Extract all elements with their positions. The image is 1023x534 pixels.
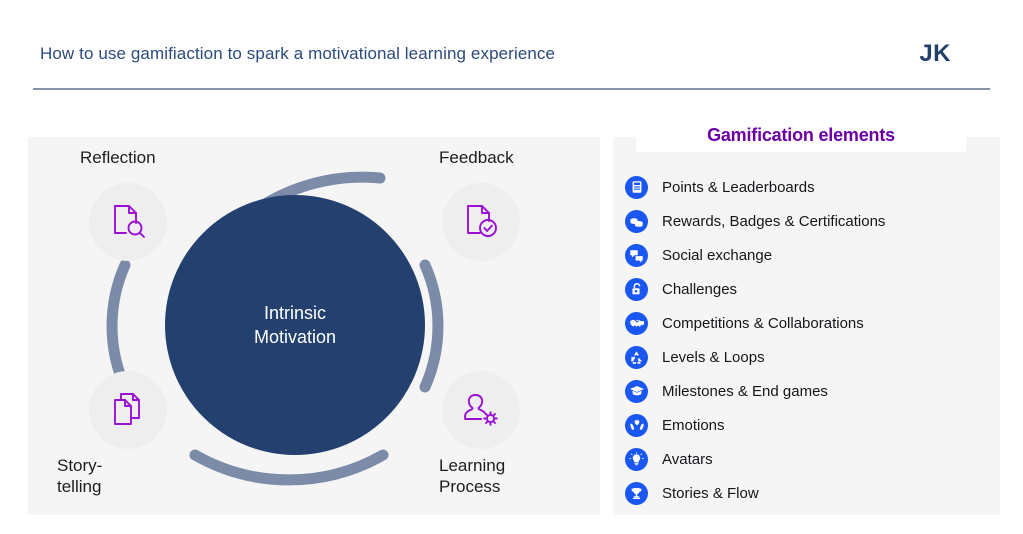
list-item[interactable]: Competitions & Collaborations: [625, 306, 1005, 340]
list-item-label: Rewards, Badges & Certifications: [662, 213, 885, 230]
cycle-node-label-feedback: Feedback: [439, 147, 514, 168]
cycle-node-label-reflection: Reflection: [80, 147, 156, 168]
list-item[interactable]: Social exchange: [625, 238, 1005, 272]
lightbulb-icon: [625, 448, 648, 471]
center-node: Intrinsic Motivation: [165, 195, 425, 455]
list-item[interactable]: Rewards, Badges & Certifications: [625, 204, 1005, 238]
list-item[interactable]: Levels & Loops: [625, 340, 1005, 374]
list-item[interactable]: Milestones & End games: [625, 374, 1005, 408]
person-gear-icon: [460, 389, 502, 431]
center-node-label: Intrinsic Motivation: [254, 301, 336, 349]
list-item[interactable]: Challenges: [625, 272, 1005, 306]
cycle-node-label-learning-process: Learning Process: [439, 455, 505, 497]
unlock-icon: [625, 278, 648, 301]
gamification-elements-header: Gamification elements: [636, 118, 966, 152]
header-divider: [33, 88, 990, 90]
list-item-label: Avatars: [662, 451, 713, 468]
recycle-loop-icon: [625, 346, 648, 369]
list-item[interactable]: Stories & Flow: [625, 476, 1005, 510]
gamification-elements-title: Gamification elements: [707, 125, 895, 146]
document-search-icon: [107, 201, 149, 243]
speech-bubbles-icon: [625, 244, 648, 267]
list-item[interactable]: Avatars: [625, 442, 1005, 476]
cycle-node-learning-process[interactable]: [442, 371, 520, 449]
list-item-label: Competitions & Collaborations: [662, 315, 864, 332]
list-item-label: Emotions: [662, 417, 725, 434]
gamification-elements-list: Points & Leaderboards Rewards, Badges & …: [625, 170, 1005, 510]
list-item-label: Milestones & End games: [662, 383, 828, 400]
handshake-icon: [625, 312, 648, 335]
list-item[interactable]: Emotions: [625, 408, 1005, 442]
calculator-icon: [625, 176, 648, 199]
list-item-label: Points & Leaderboards: [662, 179, 815, 196]
list-item-label: Social exchange: [662, 247, 772, 264]
cycle-diagram-panel: Intrinsic Motivation Reflection Fee: [28, 137, 600, 515]
graduation-cap-icon: [625, 380, 648, 403]
trophy-icon: [625, 482, 648, 505]
cycle-node-reflection[interactable]: [89, 183, 167, 261]
slide-header: How to use gamifiaction to spark a motiv…: [0, 0, 1023, 95]
page-title: How to use gamifiaction to spark a motiv…: [40, 44, 555, 64]
cycle-node-feedback[interactable]: [442, 183, 520, 261]
list-item-label: Challenges: [662, 281, 737, 298]
cycle-node-label-storytelling: Story- telling: [57, 455, 102, 497]
list-item-label: Stories & Flow: [662, 485, 759, 502]
cycle-node-storytelling[interactable]: [89, 371, 167, 449]
brand-logo: JK: [919, 40, 951, 68]
money-coins-icon: [625, 210, 648, 233]
documents-copy-icon: [107, 389, 149, 431]
list-item[interactable]: Points & Leaderboards: [625, 170, 1005, 204]
document-check-icon: [460, 201, 502, 243]
heart-hands-icon: [625, 414, 648, 437]
list-item-label: Levels & Loops: [662, 349, 765, 366]
